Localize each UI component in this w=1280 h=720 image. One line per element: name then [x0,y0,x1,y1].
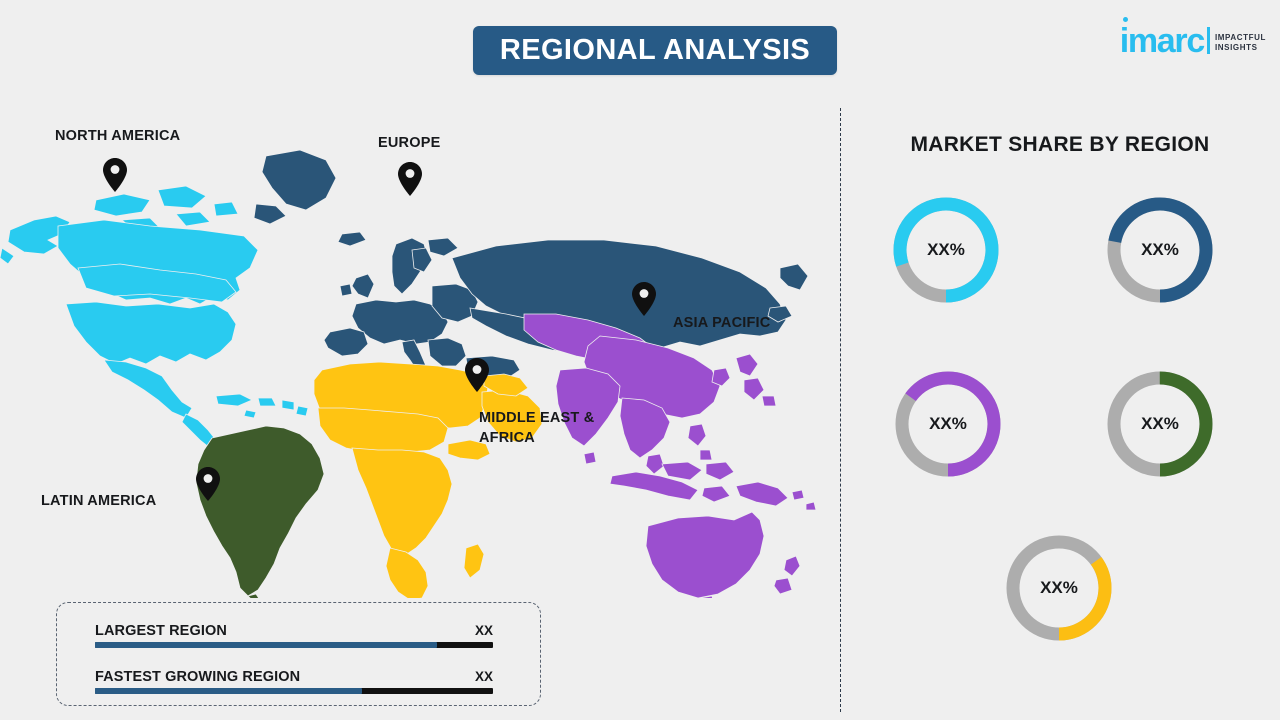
stat-value: XX [475,623,493,638]
stat-row-largest-region: LARGEST REGION XX [95,623,493,648]
map-pin-europe [398,162,422,196]
stat-header: FASTEST GROWING REGION XX [95,669,493,685]
donut-middle-east-africa: XX% [1001,530,1117,646]
stat-header: LARGEST REGION XX [95,623,493,639]
map-region-europe [254,150,808,382]
map-pin-middle-east-africa [465,358,489,392]
stat-value: XX [475,669,493,684]
donut-value-label: XX% [1001,530,1117,646]
market-share-heading: MARKET SHARE BY REGION [840,133,1280,157]
map-label-asia-pacific: ASIA PACIFIC [673,313,770,333]
stat-label: LARGEST REGION [95,623,227,639]
vertical-divider [840,108,841,712]
map-label-middle-east-africa: MIDDLE EAST & AFRICA [479,408,649,448]
map-pin-latin-america [196,467,220,501]
map-region-asia-pacific [524,314,816,598]
infographic-canvas: REGIONAL ANALYSIS imarc IMPACTFUL INSIGH… [0,0,1280,720]
stat-bar-fill [95,642,437,648]
region-highlights-box: LARGEST REGION XX FASTEST GROWING REGION… [56,602,541,706]
donut-europe: XX% [1102,192,1218,308]
map-label-north-america: NORTH AMERICA [55,126,180,146]
stat-row-fastest-growing-region: FASTEST GROWING REGION XX [95,669,493,694]
stat-bar-fill [95,688,362,694]
logo-wordmark-text: imarc [1120,22,1204,60]
page-title-text: REGIONAL ANALYSIS [500,34,810,67]
map-label-europe: EUROPE [378,133,440,153]
imarc-logo: imarc IMPACTFUL INSIGHTS [1120,20,1266,56]
logo-tagline: IMPACTFUL INSIGHTS [1215,33,1266,53]
map-label-latin-america: LATIN AMERICA [41,491,156,511]
donut-value-label: XX% [888,192,1004,308]
donut-asia-pacific: XX% [890,366,1006,482]
logo-wordmark: imarc [1120,26,1204,56]
logo-divider-bar [1207,27,1210,54]
map-pin-north-america [103,158,127,192]
donut-north-america: XX% [888,192,1004,308]
map-region-north-america [0,186,308,448]
map-pin-asia-pacific [632,282,656,316]
donut-latin-america: XX% [1102,366,1218,482]
logo-dot-icon [1123,17,1128,22]
map-region-latin-america [196,426,324,598]
stat-bar-track [95,642,493,648]
logo-tagline-line2: INSIGHTS [1215,43,1266,53]
page-title: REGIONAL ANALYSIS [473,26,837,75]
donut-value-label: XX% [1102,366,1218,482]
donut-value-label: XX% [890,366,1006,482]
donut-value-label: XX% [1102,192,1218,308]
stat-bar-track [95,688,493,694]
stat-label: FASTEST GROWING REGION [95,669,300,685]
map-region-middle-east-africa [314,362,542,598]
logo-tagline-line1: IMPACTFUL [1215,33,1266,43]
